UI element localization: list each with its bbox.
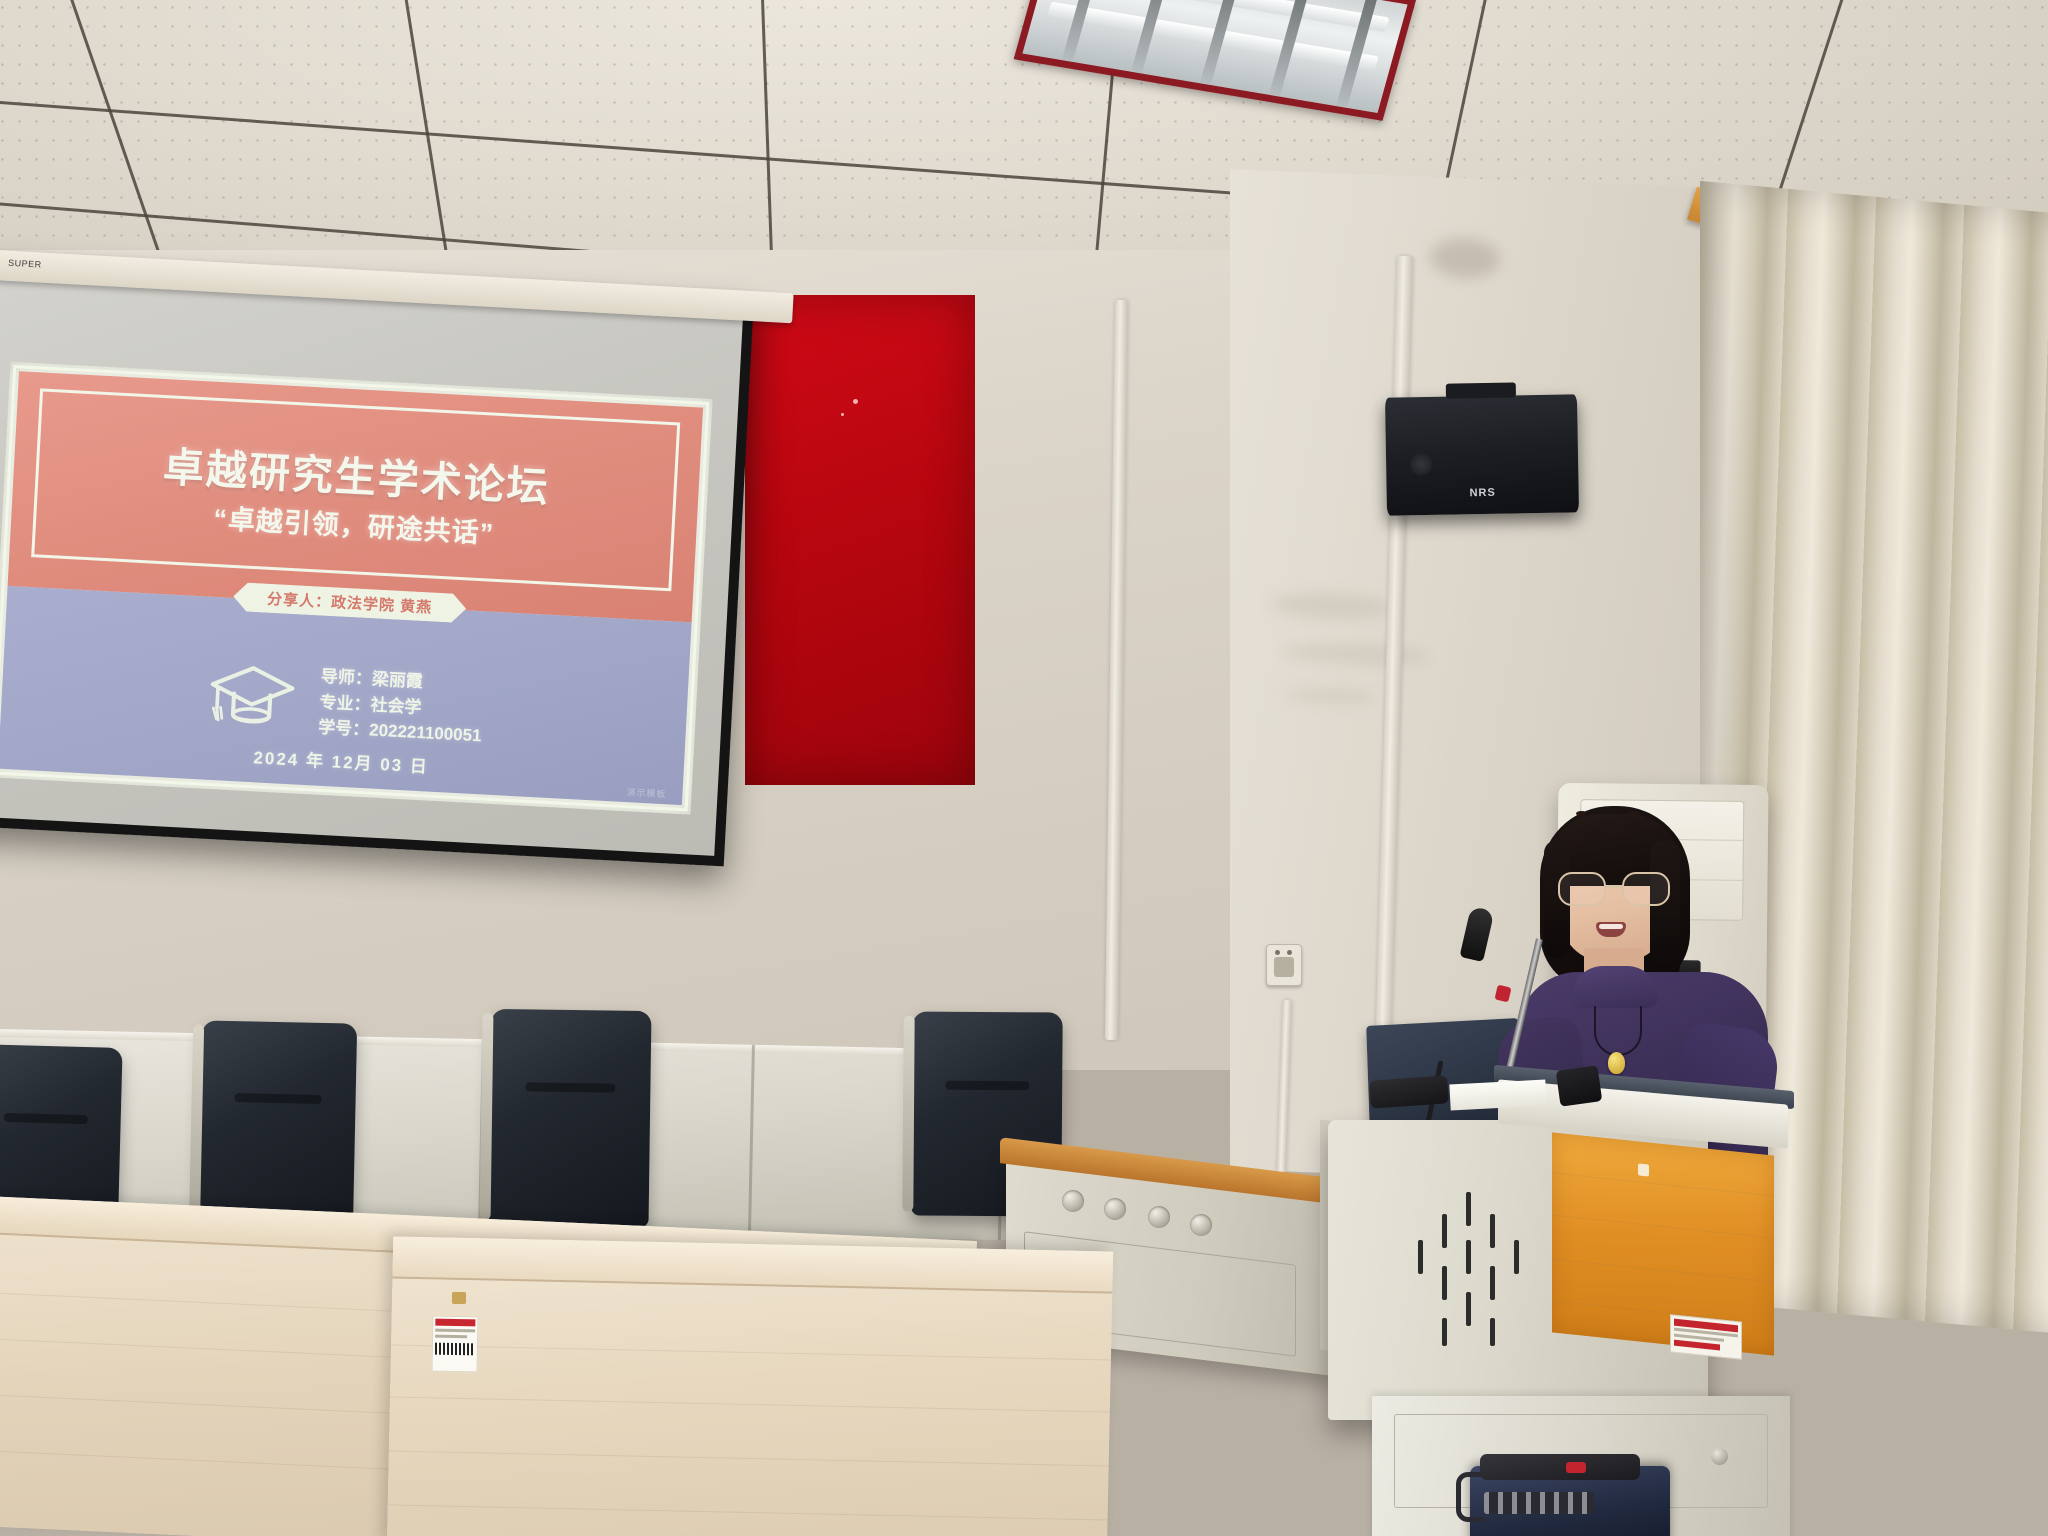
speaker-brand-label: NRS [1469,487,1495,499]
conference-chair [488,1009,651,1227]
pendant-icon [1608,1052,1625,1074]
slide-info-band: 导师：梁丽霞 专业：社会学 学号：202221100051 2024 年 12月… [0,586,692,805]
lectern-knob[interactable] [1062,1190,1084,1212]
presenter-collar [1572,966,1658,1008]
projection-screen[interactable]: 卓越研究生学术论坛 “卓越引领，研途共话” 分享人：政法学院 黄燕 [0,258,754,866]
eyeglasses-icon [1556,872,1672,902]
lectern-asset-label [1670,1314,1742,1360]
presenter-eye [1576,811,1587,816]
lectern-vent-pattern [1408,1192,1538,1352]
graduation-cap-icon [204,657,300,740]
power-outlet [1266,944,1302,986]
presenter-remote[interactable] [1556,1065,1603,1106]
pa-handle [1456,1472,1485,1522]
lectern-knob[interactable] [1104,1198,1126,1220]
screen-surface: 卓越研究生学术论坛 “卓越引领，研途共话” 分享人：政法学院 黄燕 [0,269,743,856]
presentation-slide[interactable]: 卓越研究生学术论坛 “卓越引领，研途共话” 分享人：政法学院 黄燕 [0,362,713,815]
slide-date: 2024 年 12月 03 日 [253,743,430,777]
conference-chair [198,1020,357,1235]
pa-top-panel [1480,1454,1640,1480]
desk-hinge [452,1292,466,1304]
screen-brand-logo: SUPER [8,258,42,270]
red-notice-board [745,295,975,785]
lectern-lock[interactable] [1711,1448,1728,1465]
necklace-icon [1594,1006,1642,1056]
portable-pa-speaker [1470,1466,1670,1536]
wall-mounted-speaker: NRS [1385,394,1579,515]
pa-control-knobs[interactable] [1484,1492,1594,1514]
slide-info-list: 导师：梁丽霞 专业：社会学 学号：202221100051 [318,664,485,749]
classroom-photo-scene: SUPER 卓越研究生学术论坛 “卓越引领，研途共话” 分享人：政法学院 黄燕 [0,0,2048,1536]
speaker-bracket [1446,382,1516,398]
presenter-hair-side [1650,840,1680,980]
lectern-knob[interactable] [1190,1214,1212,1236]
podium-device[interactable] [1369,1075,1449,1108]
slide-title-band: 卓越研究生学术论坛 “卓越引领，研途共话” 分享人：政法学院 黄燕 [8,371,703,622]
wood-panel-mark [1638,1163,1649,1176]
desk-asset-label [432,1316,479,1373]
conference-desk [387,1236,1113,1536]
lectern-knob[interactable] [1148,1206,1170,1228]
speaker-cone [1410,453,1432,475]
presenter-eye [1628,811,1639,816]
podium-papers [1449,1080,1546,1111]
pa-indicator [1566,1462,1586,1473]
slide-watermark: 演示模板 [626,785,667,800]
